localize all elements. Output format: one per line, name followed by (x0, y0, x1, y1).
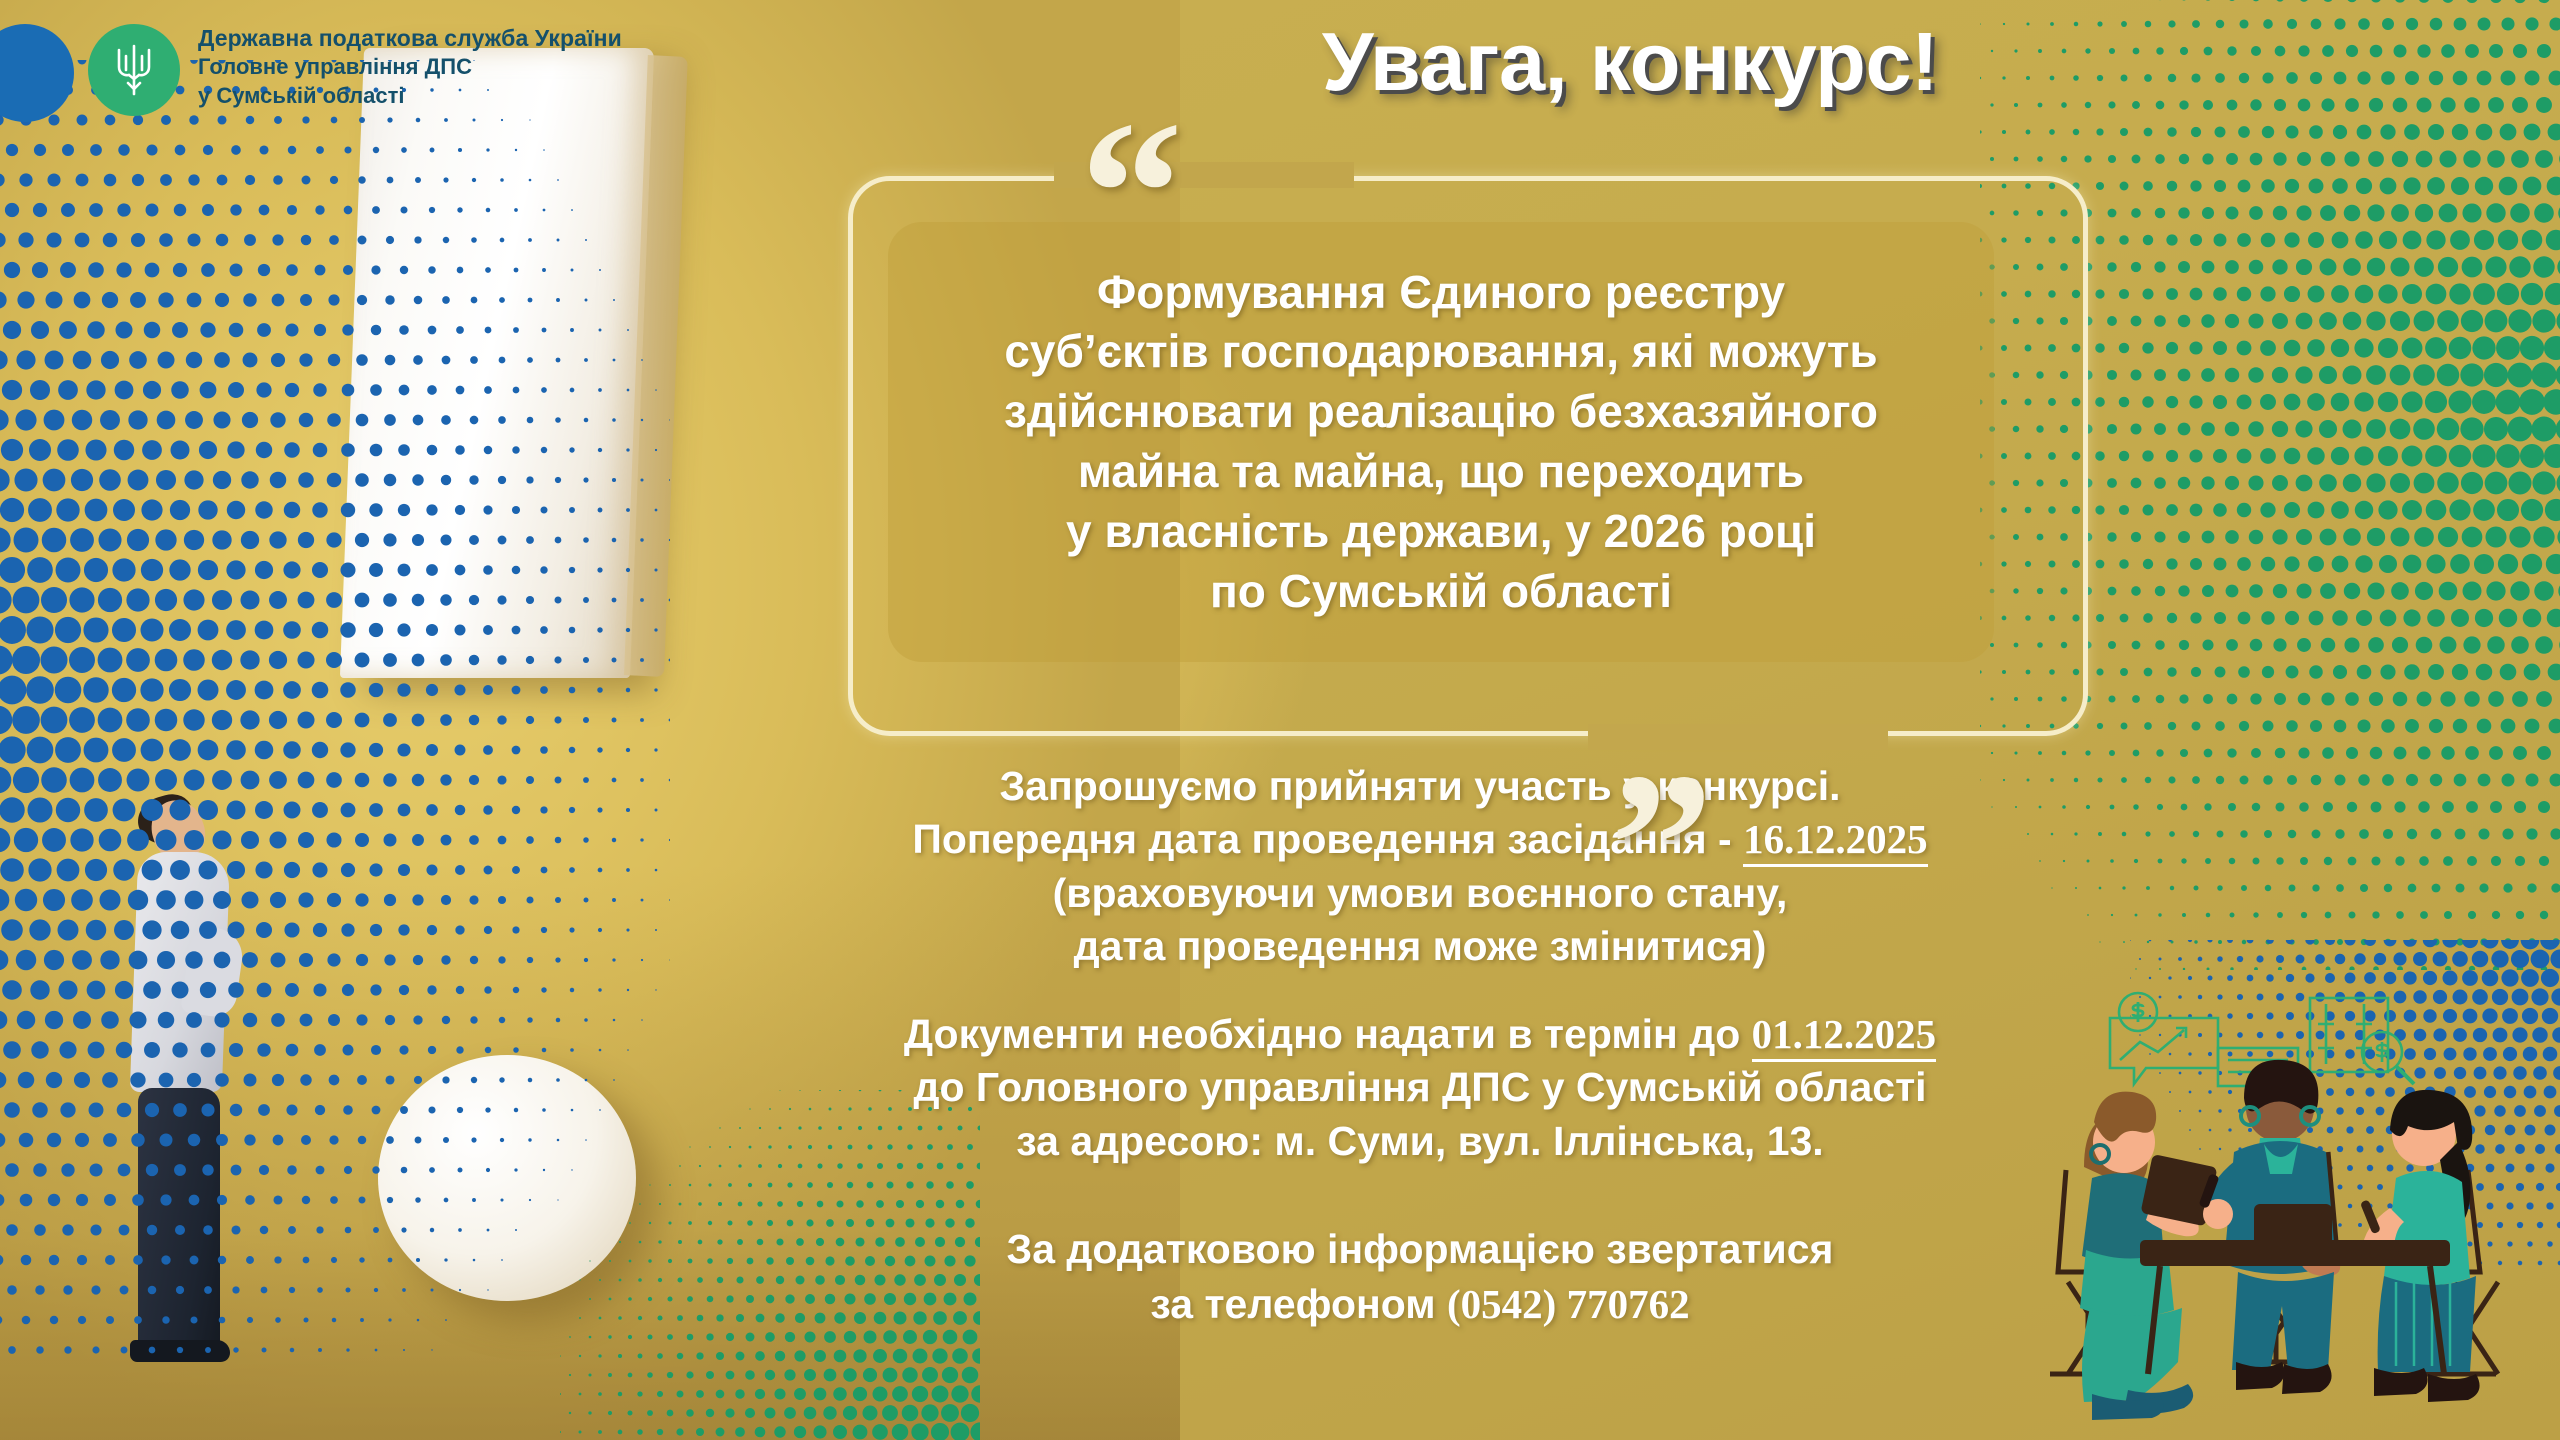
documents-paragraph: Документи необхідно надати в термін до 0… (760, 1008, 2080, 1168)
invite-line-2: Попередня дата проведення засідання - 16… (760, 813, 2080, 866)
deadline-date: 01.12.2025 (1752, 1011, 1937, 1062)
quote-text: Формування Єдиного реєстру суб’єктів гос… (978, 263, 1904, 622)
contact-line-2: за телефоном (0542) 770762 (830, 1277, 2010, 1332)
exclamation-mark-dot (378, 1055, 636, 1301)
exclamation-mark-bar (340, 48, 654, 678)
quote-line-2: суб’єктів господарювання, які можуть (1004, 322, 1878, 382)
documents-line-2: до Головного управління ДПС у Сумській о… (760, 1061, 2080, 1114)
quote-line-4: майна та майна, що переходить (1004, 442, 1878, 502)
contact-line-2-prefix: за телефоном (1150, 1281, 1447, 1327)
contact-phone: (0542) 770762 (1447, 1281, 1690, 1327)
documents-line-1-prefix: Документи необхідно надати в термін до (904, 1011, 1752, 1057)
poster-canvas: Державна податкова служба України Головн… (0, 0, 2560, 1440)
contact-paragraph: За додатковою інформацією звертатися за … (830, 1222, 2010, 1332)
person-trousers (138, 1088, 220, 1350)
quote-line-5: у власність держави, у 2026 році (1004, 502, 1878, 562)
logo-line-3: у Сумській області (198, 82, 622, 110)
quote-block: “ ” Формування Єдиного реєстру суб’єктів… (848, 176, 2088, 736)
invite-line-1: Запрошуємо прийняти участь у конкурсі. (760, 760, 2080, 813)
trident-icon (110, 40, 158, 100)
people-at-table-illustration (2028, 982, 2548, 1432)
headline-attention-competition: Увага, конкурс! (1170, 14, 2090, 110)
logo-line-2: Головне управління ДПС (198, 53, 622, 81)
documents-line-1: Документи необхідно надати в термін до 0… (760, 1008, 2080, 1061)
person-shoe (130, 1340, 230, 1362)
invite-line-4: дата проведення може змінитися) (760, 920, 2080, 973)
logo-line-1: Державна податкова служба України (198, 24, 622, 53)
invite-line-3: (враховуючи умови воєнного стану, (760, 867, 2080, 920)
contact-line-1: За додатковою інформацією звертатися (830, 1222, 2010, 1277)
documents-line-3: за адресою: м. Суми, вул. Іллінська, 13. (760, 1115, 2080, 1168)
logo-blue-circle (0, 24, 74, 122)
person-looking-up-photo (110, 800, 260, 1360)
logo-text: Державна податкова служба України Головн… (198, 10, 622, 110)
invitation-paragraph: Запрошуємо прийняти участь у конкурсі. П… (760, 760, 2080, 973)
quote-line-6: по Сумській області (1004, 562, 1878, 622)
organisation-logo-block: Державна податкова служба України Головн… (14, 10, 622, 118)
quote-inner-panel: Формування Єдиного реєстру суб’єктів гос… (888, 222, 1994, 662)
quote-line-3: здійснювати реалізацію безхазяйного (1004, 382, 1878, 442)
meeting-date: 16.12.2025 (1743, 816, 1928, 867)
logo-circles (14, 10, 184, 118)
quote-close-icon: ” (1610, 742, 1713, 948)
quote-line-1: Формування Єдиного реєстру (1004, 263, 1878, 323)
